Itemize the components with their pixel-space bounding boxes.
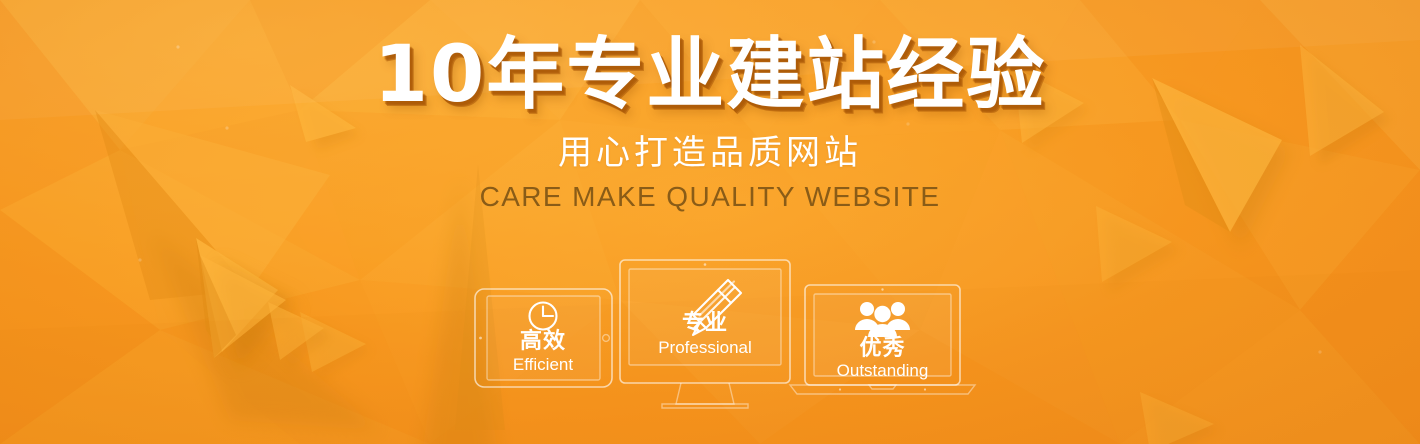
feature-monitor-professional[interactable]: 专业 Professional xyxy=(620,260,790,408)
feature-label-en-outstanding: Outstanding xyxy=(837,361,929,380)
feature-label-en-efficient: Efficient xyxy=(513,355,573,374)
banner-subtitle-english: CARE MAKE QUALITY WEBSITE xyxy=(480,183,941,211)
promo-banner: 10年专业建站经验 用心打造品质网站 CARE MAKE QUALITY WEB… xyxy=(0,0,1420,444)
banner-headline: 10年专业建站经验 xyxy=(374,36,1047,114)
feature-tablet-efficient[interactable]: 高效 Efficient xyxy=(475,289,612,387)
feature-label-en-professional: Professional xyxy=(658,338,752,357)
feature-label-cn-professional: 专业 xyxy=(682,310,728,336)
feature-laptop-outstanding[interactable]: 优秀 Outstanding xyxy=(790,285,975,394)
banner-subtitle-chinese: 用心打造品质网站 xyxy=(558,136,862,170)
feature-label-cn-outstanding: 优秀 xyxy=(859,335,905,361)
feature-device-group: 高效 Efficient xyxy=(0,252,1420,417)
feature-label-cn-efficient: 高效 xyxy=(520,328,566,354)
